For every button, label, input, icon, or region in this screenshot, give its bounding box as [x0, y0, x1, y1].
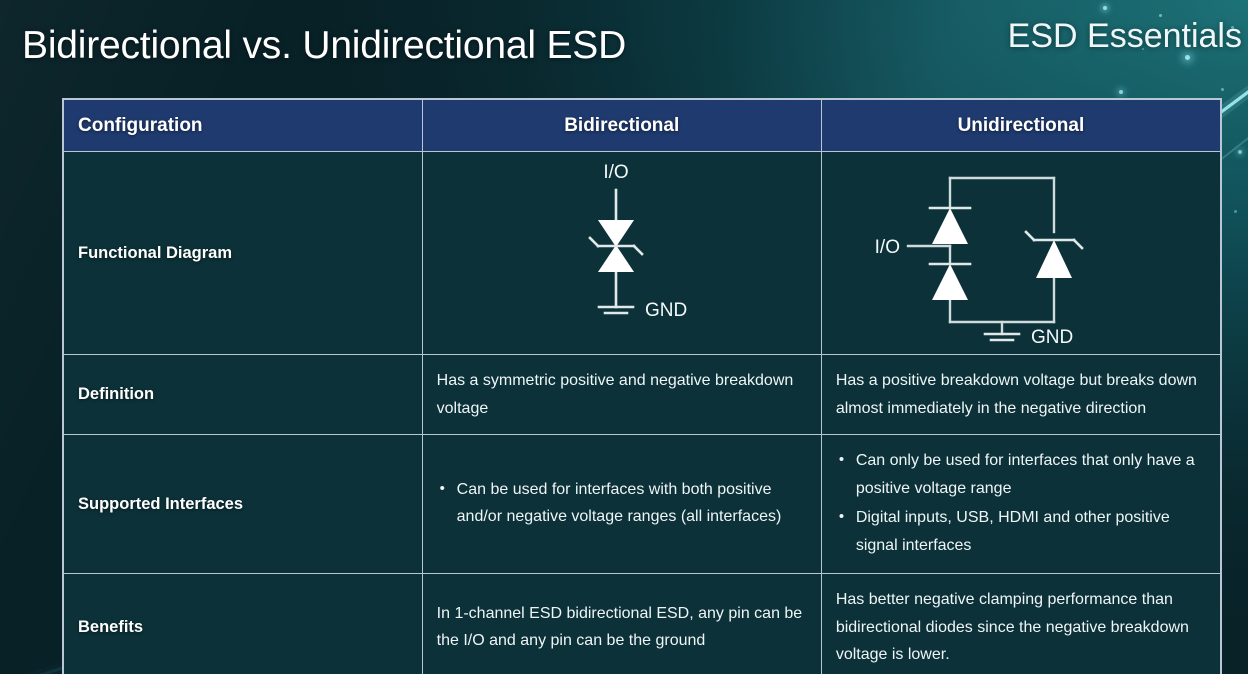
deck-label: ESD Essentials	[1008, 17, 1242, 56]
comparison-table-wrapper: Configuration Bidirectional Unidirection…	[62, 98, 1222, 674]
particle-dot	[1119, 90, 1123, 94]
particle-dot	[1234, 210, 1237, 213]
bullet-list-unidirectional: Can only be used for interfaces that onl…	[836, 447, 1206, 559]
cell-bidirectional-diagram: I/O GND	[422, 152, 821, 355]
cell-benefits-unidirectional: Has better negative clamping performance…	[821, 574, 1220, 674]
bullet-list-bidirectional: Can be used for interfaces with both pos…	[437, 476, 807, 531]
list-item: Can only be used for interfaces that onl…	[836, 447, 1206, 502]
unidirectional-gnd-label: GND	[1031, 327, 1073, 348]
table-row-functional-diagram: Functional Diagram	[64, 152, 1221, 355]
bidirectional-gnd-label: GND	[645, 300, 687, 321]
slide-canvas: Bidirectional vs. Unidirectional ESD ESD…	[0, 0, 1248, 674]
cell-definition-unidirectional: Has a positive breakdown voltage but bre…	[821, 355, 1220, 435]
table-row-supported-interfaces: Supported Interfaces Can be used for int…	[64, 435, 1221, 574]
table-body: Functional Diagram	[64, 152, 1221, 674]
row-label-benefits: Benefits	[64, 574, 423, 674]
table-row-definition: Definition Has a symmetric positive and …	[64, 355, 1221, 435]
cell-supported-bidirectional: Can be used for interfaces with both pos…	[422, 435, 821, 574]
unidirectional-io-label: I/O	[874, 237, 899, 258]
unidirectional-rail-clamp-schematic: I/O GND	[822, 152, 1224, 354]
table-header-row: Configuration Bidirectional Unidirection…	[64, 100, 1221, 152]
column-header-unidirectional: Unidirectional	[821, 100, 1220, 152]
title-bar: Bidirectional vs. Unidirectional ESD ESD…	[0, 0, 1248, 86]
table-row-benefits: Benefits In 1-channel ESD bidirectional …	[64, 574, 1221, 674]
list-item: Can be used for interfaces with both pos…	[437, 476, 807, 531]
page-title: Bidirectional vs. Unidirectional ESD	[22, 24, 626, 68]
cell-definition-bidirectional: Has a symmetric positive and negative br…	[422, 355, 821, 435]
cell-supported-unidirectional: Can only be used for interfaces that onl…	[821, 435, 1220, 574]
row-label-definition: Definition	[64, 355, 423, 435]
row-label-functional-diagram: Functional Diagram	[64, 152, 423, 355]
bidirectional-io-label: I/O	[603, 162, 628, 183]
row-label-supported-interfaces: Supported Interfaces	[64, 435, 423, 574]
cell-benefits-bidirectional: In 1-channel ESD bidirectional ESD, any …	[422, 574, 821, 674]
particle-dot	[1221, 88, 1224, 91]
cell-unidirectional-diagram: I/O GND	[821, 152, 1220, 355]
list-item: Digital inputs, USB, HDMI and other posi…	[836, 504, 1206, 559]
bidirectional-tvs-schematic: I/O GND	[423, 152, 823, 354]
table-header: Configuration Bidirectional Unidirection…	[64, 100, 1221, 152]
particle-dot	[1238, 150, 1242, 154]
comparison-table: Configuration Bidirectional Unidirection…	[63, 99, 1221, 674]
column-header-bidirectional: Bidirectional	[422, 100, 821, 152]
column-header-configuration: Configuration	[64, 100, 423, 152]
